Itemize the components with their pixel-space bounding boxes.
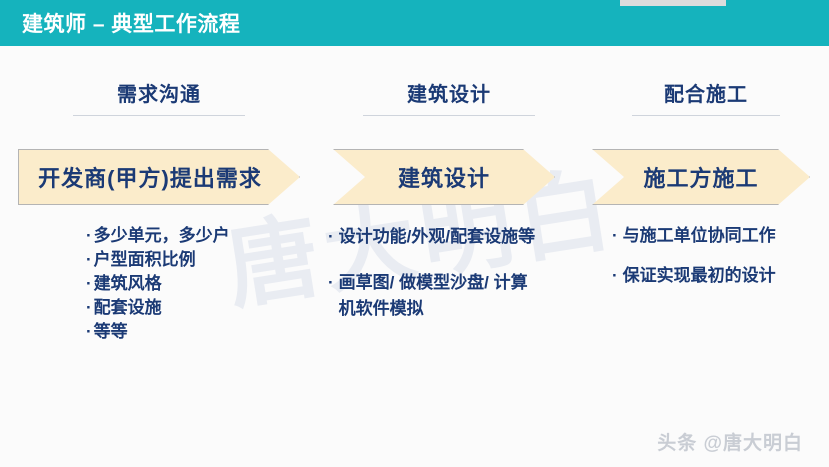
bullet-dot-icon: · bbox=[86, 248, 92, 271]
bullet-dot-icon: · bbox=[86, 272, 92, 295]
list-item: · 配套设施 bbox=[86, 296, 286, 319]
list-item-text: 设计功能/外观/配套设施等 bbox=[339, 224, 540, 250]
stage-shape-3: 施工方施工 bbox=[592, 149, 810, 205]
list-item: · 与施工单位协同工作 bbox=[612, 224, 824, 248]
column-header-3: 配合施工 bbox=[592, 78, 820, 116]
stage-shape-1: 开发商(甲方)提出需求 bbox=[18, 149, 300, 205]
bullet-list-2: · 设计功能/外观/配套设施等 · 画草图/ 做模型沙盘/ 计算机软件模拟 bbox=[328, 224, 540, 342]
bullet-dot-icon: · bbox=[86, 296, 92, 319]
list-item-text: 多少单元，多少户 bbox=[94, 224, 286, 247]
bullet-dot-icon: · bbox=[86, 224, 92, 247]
page-title: 建筑师 – 典型工作流程 bbox=[22, 8, 240, 38]
bullet-dot-icon: · bbox=[612, 264, 618, 288]
list-item: · 设计功能/外观/配套设施等 bbox=[328, 224, 540, 250]
column-title-1: 需求沟通 bbox=[14, 78, 304, 107]
column-header-2: 建筑设计 bbox=[318, 78, 580, 116]
header-top-strip bbox=[620, 0, 726, 6]
slide-canvas: 建筑师 – 典型工作流程 唐大明白 需求沟通 建筑设计 配合施工 开发商(甲方)… bbox=[0, 0, 829, 467]
list-item: · 多少单元，多少户 bbox=[86, 224, 286, 247]
list-item-text: 与施工单位协同工作 bbox=[623, 224, 824, 248]
stage-shape-2: 建筑设计 bbox=[333, 149, 555, 205]
list-item-text: 画草图/ 做模型沙盘/ 计算机软件模拟 bbox=[339, 270, 540, 322]
bullet-list-3: · 与施工单位协同工作 · 保证实现最初的设计 bbox=[612, 224, 824, 304]
footer-watermark: 头条 @唐大明白 bbox=[657, 428, 803, 455]
bullet-dot-icon: · bbox=[86, 320, 92, 343]
column-title-3: 配合施工 bbox=[592, 78, 820, 107]
bullet-dot-icon: · bbox=[612, 224, 618, 248]
column-rule-2 bbox=[363, 115, 535, 116]
list-item-text: 建筑风格 bbox=[94, 272, 286, 295]
list-item-text: 保证实现最初的设计 bbox=[623, 264, 824, 288]
bullet-dot-icon: · bbox=[328, 224, 334, 250]
list-item: · 等等 bbox=[86, 320, 286, 343]
chevron-right-icon: 施工方施工 bbox=[592, 149, 810, 205]
chevron-right-icon: 建筑设计 bbox=[333, 149, 555, 205]
list-item: · 户型面积比例 bbox=[86, 248, 286, 271]
bullet-dot-icon: · bbox=[328, 270, 334, 322]
column-rule-3 bbox=[632, 115, 780, 116]
list-item-text: 等等 bbox=[94, 320, 286, 343]
column-header-1: 需求沟通 bbox=[14, 78, 304, 116]
stage-label-3: 施工方施工 bbox=[625, 161, 776, 193]
column-rule-1 bbox=[73, 115, 245, 116]
list-item-text: 配套设施 bbox=[94, 296, 286, 319]
stage-label-2: 建筑设计 bbox=[380, 161, 508, 193]
bullet-list-1: · 多少单元，多少户 · 户型面积比例 · 建筑风格 · 配套设施 · 等等 bbox=[86, 224, 286, 344]
column-title-2: 建筑设计 bbox=[318, 78, 580, 107]
arrow-right-icon: 开发商(甲方)提出需求 bbox=[18, 149, 300, 205]
list-item: · 建筑风格 bbox=[86, 272, 286, 295]
stage-label-1: 开发商(甲方)提出需求 bbox=[38, 161, 280, 193]
list-item: · 画草图/ 做模型沙盘/ 计算机软件模拟 bbox=[328, 270, 540, 322]
list-item: · 保证实现最初的设计 bbox=[612, 264, 824, 288]
list-item-text: 户型面积比例 bbox=[94, 248, 286, 271]
